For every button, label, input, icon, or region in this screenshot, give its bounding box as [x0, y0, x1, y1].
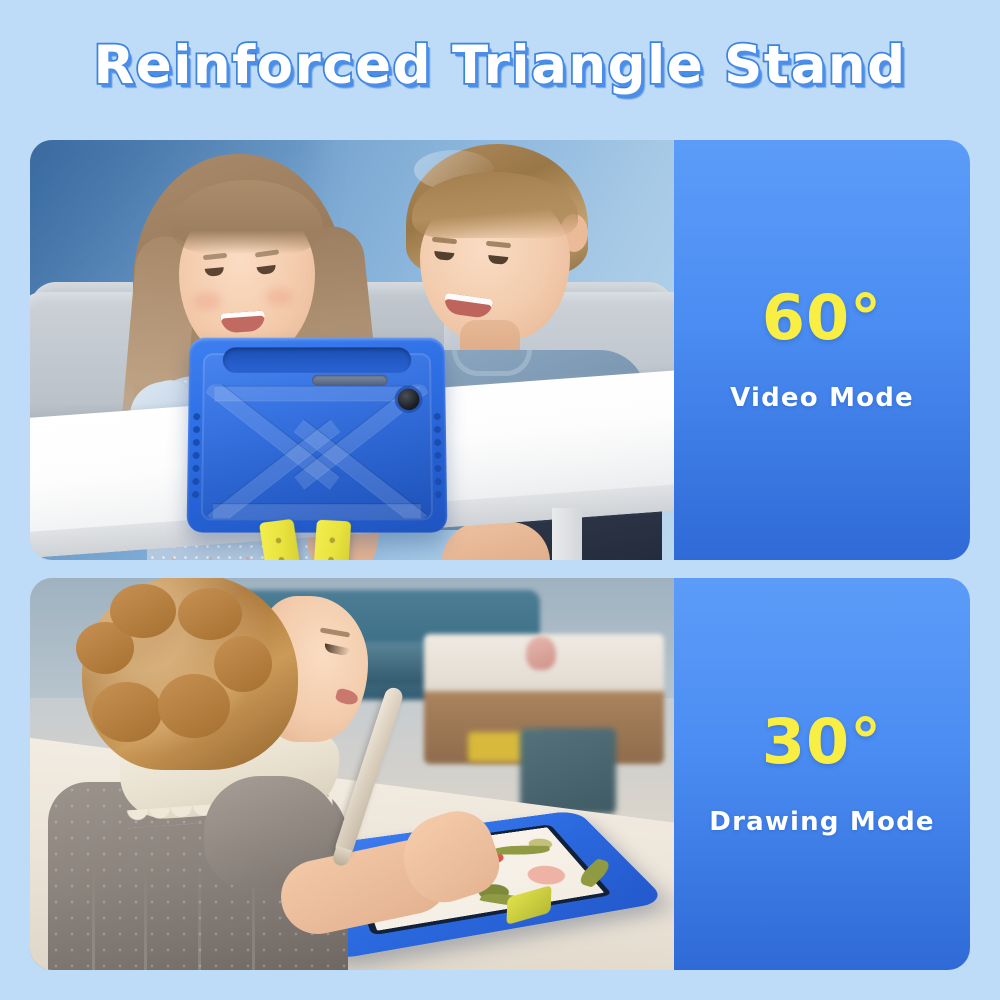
girl2-hair-curl-2 — [110, 584, 176, 638]
title-bar: Reinforced Triangle Stand — [0, 0, 1000, 130]
case-carry-handle — [223, 347, 412, 372]
product-photo-video-mode — [30, 140, 674, 560]
case-triangle-relief — [205, 385, 429, 519]
girl-cheek-left — [193, 292, 221, 310]
mode-label: Video Mode — [730, 383, 914, 413]
page-title: Reinforced Triangle Stand — [93, 35, 906, 96]
relief-bar-bottom — [213, 504, 421, 518]
girl2-dress-pleat-3 — [198, 868, 201, 970]
child-girl-drawing — [48, 578, 378, 970]
feature-card-drawing-mode: 30° Drawing Mode — [30, 578, 970, 970]
girl-cheek-right — [265, 288, 293, 306]
kickstand-leg-right — [311, 520, 351, 560]
feature-card-video-mode: 60° Video Mode — [30, 140, 970, 560]
relief-bar-top — [214, 387, 419, 401]
mode-label: Drawing Mode — [709, 807, 934, 837]
info-panel-drawing-mode: 30° Drawing Mode — [674, 578, 970, 970]
case-side-vents-left — [192, 410, 200, 502]
girl2-dress-pleat-1 — [92, 868, 95, 970]
background-vase — [526, 636, 556, 670]
artwork-leaf-3 — [573, 859, 615, 888]
angle-value: 30° — [762, 711, 882, 773]
tablet-case-60-degrees — [187, 338, 448, 533]
girl2-dress-pleat-2 — [144, 868, 147, 970]
white-table-leg — [552, 508, 582, 560]
camera-cutout — [398, 388, 420, 410]
girl2-hair-curl-3 — [178, 588, 242, 640]
info-panel-video-mode: 60° Video Mode — [674, 140, 970, 560]
girl2-hair-curl-6 — [214, 636, 272, 692]
girl2-hair-curl-5 — [158, 674, 230, 738]
background-storage-box — [520, 728, 616, 814]
girl2-hair-curl-4 — [92, 682, 162, 742]
angle-value: 60° — [762, 287, 882, 349]
product-photo-drawing-mode — [30, 578, 674, 970]
case-side-vents-right — [434, 410, 442, 502]
artwork-leaf-2 — [493, 845, 551, 854]
